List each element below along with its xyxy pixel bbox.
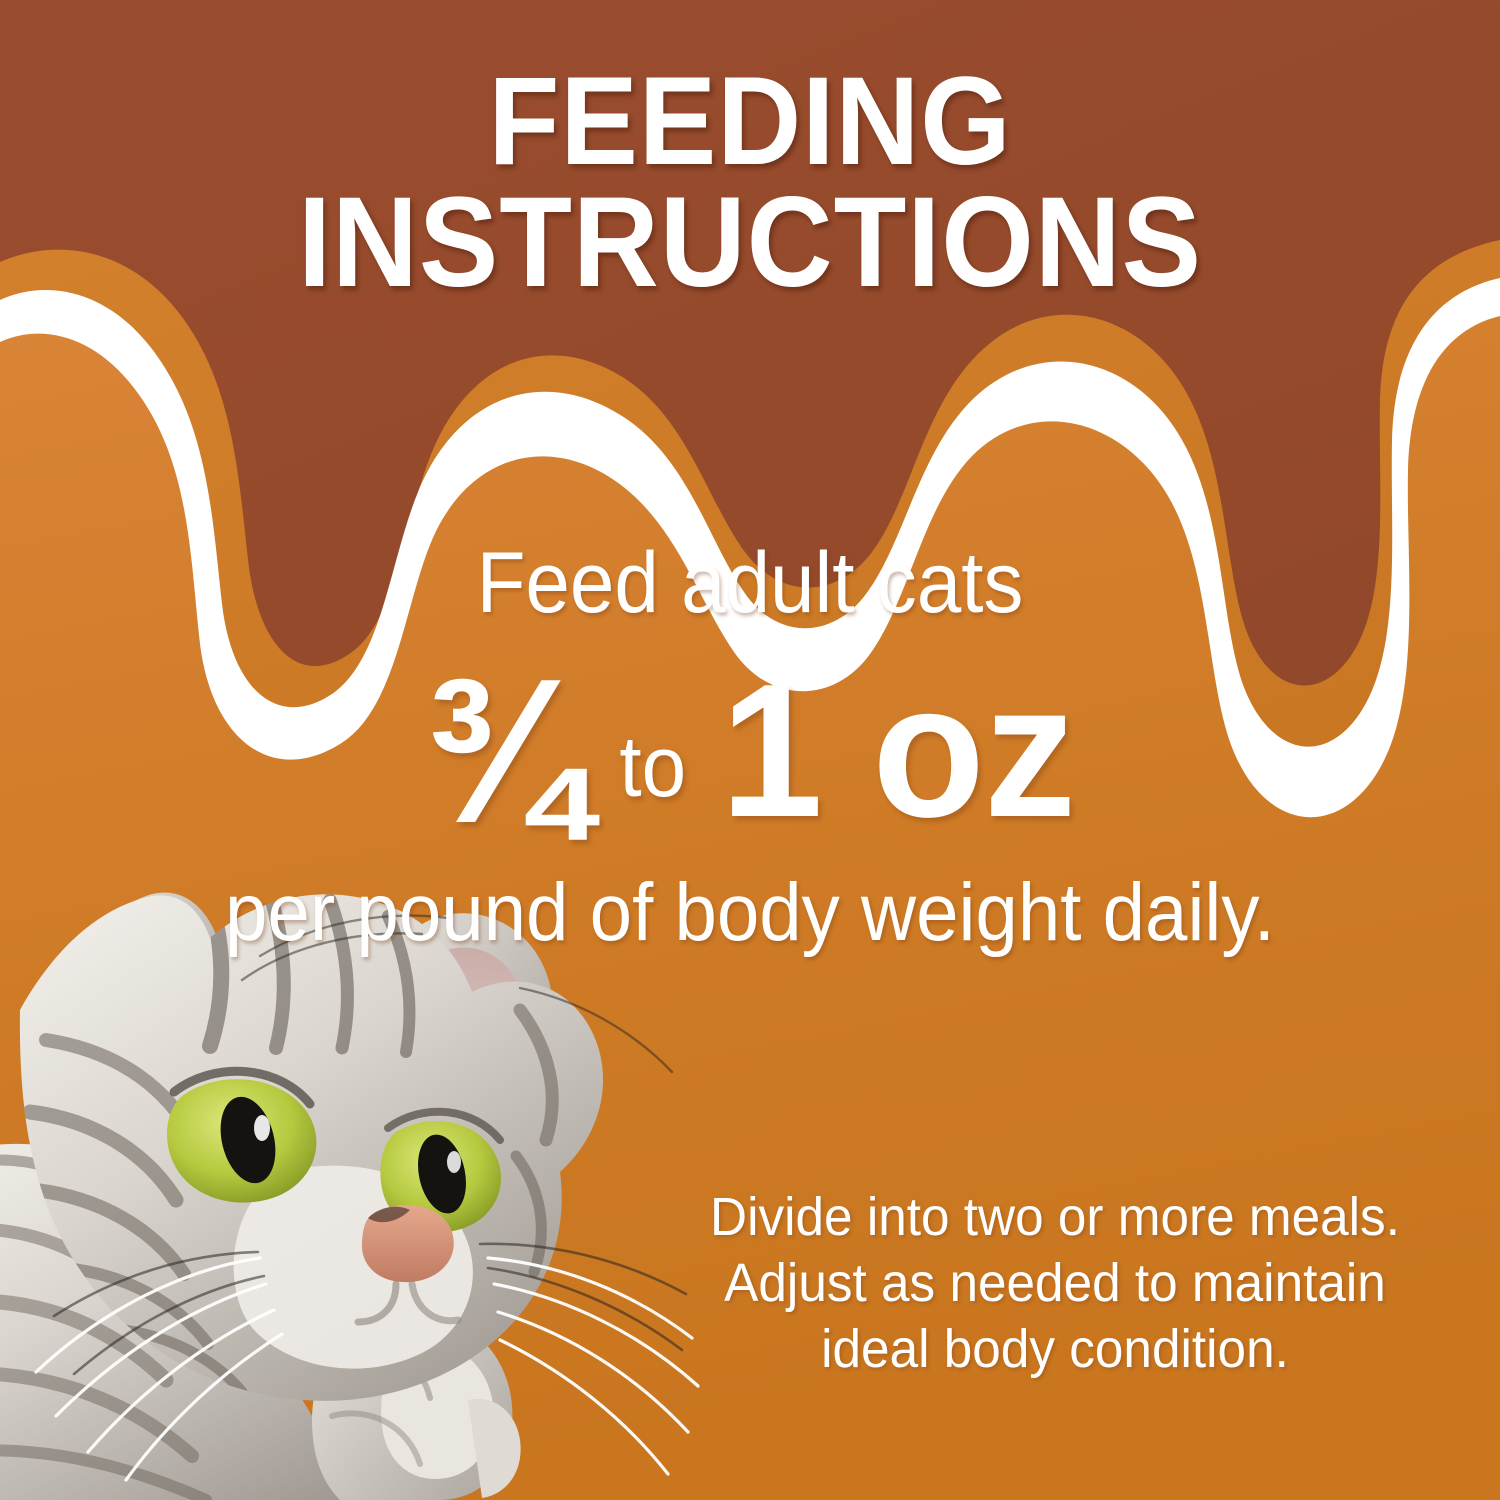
- feeding-instructions-panel: FEEDING INSTRUCTIONS Feed adult cats ¾ t…: [0, 0, 1500, 1500]
- feeding-note: Divide into two or more meals. Adjust as…: [680, 1185, 1431, 1383]
- note-line-1: Divide into two or more meals.: [680, 1185, 1431, 1251]
- amount-connector: to: [592, 724, 711, 810]
- feeding-amount: ¾ to 1 oz: [0, 648, 1500, 854]
- lead-text: Feed adult cats: [53, 540, 1448, 626]
- feeding-copy: Feed adult cats ¾ to 1 oz per pound of b…: [0, 540, 1500, 954]
- amount-fraction: ¾: [424, 648, 583, 854]
- note-line-3: ideal body condition.: [680, 1317, 1431, 1383]
- amount-value: 1 oz: [720, 656, 1075, 846]
- trailing-text: per pound of body weight daily.: [53, 872, 1448, 954]
- note-line-2: Adjust as needed to maintain: [680, 1251, 1431, 1317]
